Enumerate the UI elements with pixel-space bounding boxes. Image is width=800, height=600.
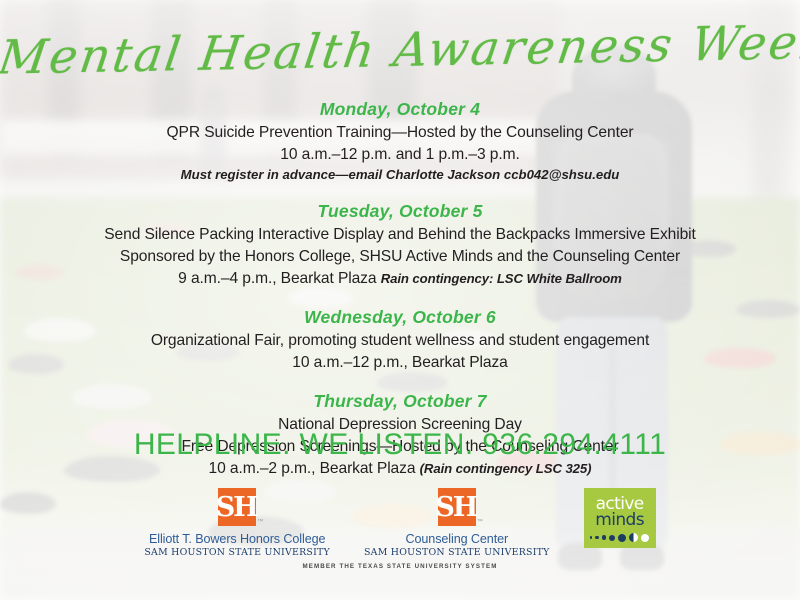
day-heading: Monday, October 4 — [40, 98, 760, 122]
logo-subtitle: SAM HOUSTON STATE UNIVERSITY — [144, 547, 330, 558]
day-rain-contingency: (Rain contingency LSC 325) — [420, 461, 592, 476]
shsu-logo-icon: SH ™ — [218, 488, 256, 526]
schedule-day-tuesday: Tuesday, October 5 Send Silence Packing … — [40, 200, 760, 290]
sponsor-logo-row: SH ™ Elliott T. Bowers Honors College SA… — [0, 488, 800, 558]
day-time-line: 9 a.m.–4 p.m., Bearkat Plaza Rain contin… — [40, 268, 760, 290]
day-heading: Wednesday, October 6 — [40, 306, 760, 330]
helpline-banner: HELPLINE. WE LISTEN. 936.294.4111 — [0, 428, 800, 462]
active-minds-logo-icon: active minds — [584, 488, 656, 548]
logo-title: Counseling Center — [406, 532, 509, 546]
day-time-line: 10 a.m.–12 p.m. and 1 p.m.–3 p.m. — [40, 144, 760, 166]
day-detail-line: Send Silence Packing Interactive Display… — [40, 224, 760, 246]
day-detail-line: QPR Suicide Prevention Training—Hosted b… — [40, 122, 760, 144]
logo-honors-college: SH ™ Elliott T. Bowers Honors College SA… — [144, 488, 330, 558]
day-sponsor-line: Sponsored by the Honors College, SHSU Ac… — [40, 246, 760, 268]
active-minds-line2: minds — [595, 512, 644, 529]
shsu-monogram: SH — [435, 494, 476, 521]
page-title: Mental Health Awareness Week — [0, 18, 800, 83]
day-time-text: 10 a.m.–2 p.m., Bearkat Plaza — [209, 460, 420, 477]
logo-title: Elliott T. Bowers Honors College — [149, 532, 325, 546]
poster-content: Mental Health Awareness Week Monday, Oct… — [0, 0, 800, 600]
logo-active-minds: active minds — [584, 488, 656, 548]
day-time-line: 10 a.m.–12 p.m., Bearkat Plaza — [40, 352, 760, 374]
day-registration-note: Must register in advance—email Charlotte… — [40, 166, 760, 184]
day-time-text: 9 a.m.–4 p.m., Bearkat Plaza — [178, 270, 381, 287]
day-heading: Tuesday, October 5 — [40, 200, 760, 224]
poster-canvas: Mental Health Awareness Week Monday, Oct… — [0, 0, 800, 600]
shsu-monogram: SH — [216, 494, 257, 521]
schedule-day-monday: Monday, October 4 QPR Suicide Prevention… — [40, 98, 760, 184]
trademark-icon: ™ — [477, 519, 483, 525]
texas-state-university-system-footer: MEMBER THE TEXAS STATE UNIVERSITY SYSTEM — [0, 563, 800, 570]
day-detail-line: Organizational Fair, promoting student w… — [40, 330, 760, 352]
logo-counseling-center: SH ™ Counseling Center SAM HOUSTON STATE… — [364, 488, 550, 558]
schedule-day-wednesday: Wednesday, October 6 Organizational Fair… — [40, 306, 760, 374]
shsu-logo-icon: SH ™ — [438, 488, 476, 526]
active-minds-dots-icon — [590, 533, 650, 542]
day-heading: Thursday, October 7 — [40, 390, 760, 414]
logo-subtitle: SAM HOUSTON STATE UNIVERSITY — [364, 547, 550, 558]
day-rain-contingency: Rain contingency: LSC White Ballroom — [381, 271, 622, 286]
trademark-icon: ™ — [257, 519, 263, 525]
